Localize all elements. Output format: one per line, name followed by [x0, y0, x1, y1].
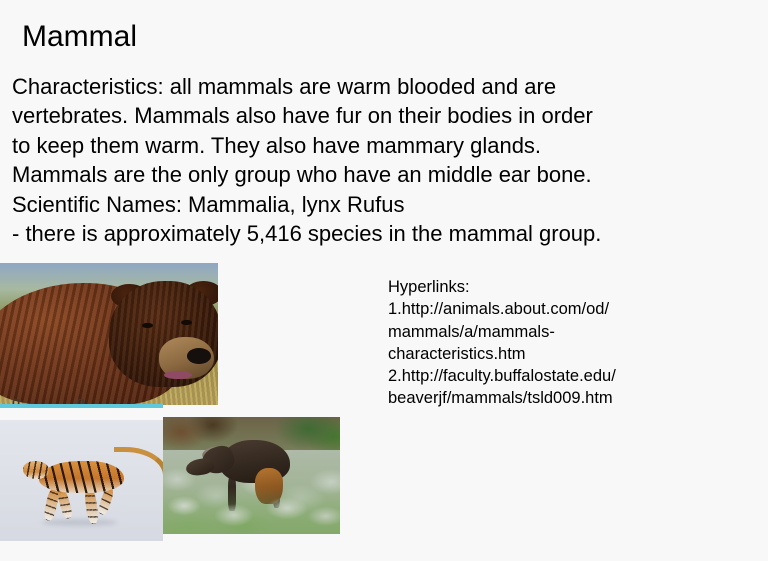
hyperlink-line[interactable]: characteristics.htm: [388, 343, 718, 365]
tiger-photo-body: [39, 461, 124, 492]
hyperlink-line[interactable]: 1.http://animals.about.com/od/: [388, 298, 718, 320]
slide-canvas: Mammal Characteristics: all mammals are …: [0, 0, 768, 561]
hyperlinks-heading: Hyperlinks:: [388, 276, 718, 298]
moose-photo: [163, 417, 340, 534]
body-text-block: Characteristics: all mammals are warm bl…: [12, 72, 760, 248]
bear-photo-eye-left: [142, 323, 153, 329]
tiger-photo: [0, 420, 163, 541]
body-line: - there is approximately 5,416 species i…: [12, 219, 760, 248]
hyperlink-line[interactable]: beaverjf/mammals/tsld009.htm: [388, 387, 718, 409]
page-title: Mammal: [22, 19, 137, 55]
tiger-photo-leg: [56, 488, 74, 520]
hyperlink-line[interactable]: mammals/a/mammals-: [388, 321, 718, 343]
tiger-photo-shadow: [42, 519, 117, 526]
body-line: Mammals are the only group who have an m…: [12, 160, 760, 189]
hyperlinks-block: Hyperlinks: 1.http://animals.about.com/o…: [388, 276, 718, 410]
bear-photo: [0, 263, 218, 405]
moose-photo-foreground-brush: [163, 487, 340, 534]
body-line: Characteristics: all mammals are warm bl…: [12, 72, 760, 101]
hyperlink-line[interactable]: 2.http://faculty.buffalostate.edu/: [388, 365, 718, 387]
body-line: Scientific Names: Mammalia, lynx Rufus: [12, 190, 760, 219]
link-underline-rule: [0, 404, 163, 408]
bear-photo-nose: [187, 348, 211, 364]
tiger-photo-head: [23, 461, 49, 479]
body-line: vertebrates. Mammals also have fur on th…: [12, 101, 760, 130]
body-line: to keep them warm. They also have mammar…: [12, 131, 760, 160]
